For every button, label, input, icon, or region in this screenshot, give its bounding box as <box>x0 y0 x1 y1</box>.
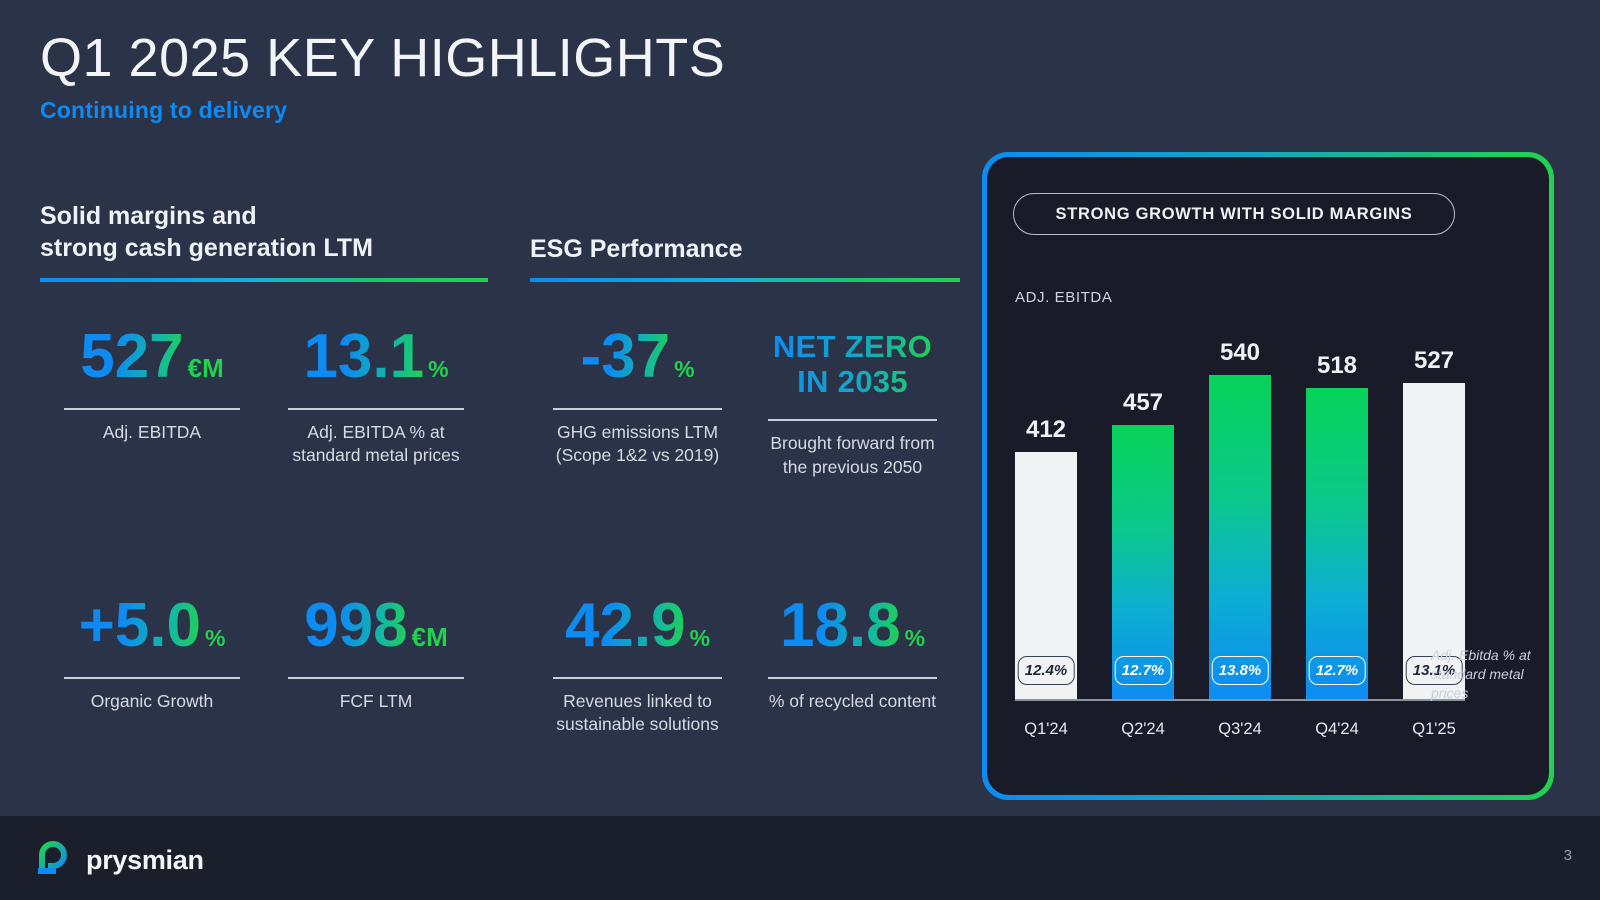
section-esg: ESG Performance <box>530 200 960 282</box>
section-title-financial: Solid margins and strong cash generation… <box>40 200 488 266</box>
kpi-unit: % <box>690 625 710 651</box>
chart-bar-column: 13.1%527 <box>1403 339 1465 699</box>
page-number: 3 <box>1564 847 1572 864</box>
footer: prysmian 3 <box>0 816 1600 900</box>
chart-bar-column: 12.7%457 <box>1112 339 1174 699</box>
kpi-value: +5.0 <box>79 595 201 657</box>
kpi-row-top: 527€M Adj. EBITDA 13.1% Adj. EBITDA % at… <box>40 282 970 479</box>
panel-badge: STRONG GROWTH WITH SOLID MARGINS <box>1013 193 1455 235</box>
kpi-group-financial-bottom: +5.0% Organic Growth 998€M FCF LTM <box>40 479 488 736</box>
kpi-caption: Revenues linked to sustainable solutions <box>542 690 733 736</box>
chart-margin-badge: 12.7% <box>1115 656 1172 685</box>
chart-margin-badge: 12.4% <box>1018 656 1075 685</box>
kpi-caption: Adj. EBITDA <box>52 421 252 444</box>
kpi-ghg-emissions: -37% GHG emissions LTM (Scope 1&2 vs 201… <box>530 326 745 479</box>
kpi-unit: €M <box>188 353 224 383</box>
chart-bar-value-label: 527 <box>1414 347 1454 375</box>
chart-x-tick-label: Q4'24 <box>1306 720 1368 739</box>
kpi-group-esg-top: -37% GHG emissions LTM (Scope 1&2 vs 201… <box>530 282 960 479</box>
prysmian-mark-icon <box>34 836 74 885</box>
brand-logo: prysmian <box>34 836 204 885</box>
section-financial: Solid margins and strong cash generation… <box>40 200 488 282</box>
kpi-row-bottom: +5.0% Organic Growth 998€M FCF LTM <box>40 479 970 736</box>
chart-bar-value-label: 412 <box>1026 416 1066 444</box>
kpi-area: Solid margins and strong cash generation… <box>40 200 970 736</box>
section-title-esg: ESG Performance <box>530 200 960 266</box>
kpi-adj-ebitda: 527€M Adj. EBITDA <box>40 326 264 467</box>
kpi-caption: % of recycled content <box>757 690 948 713</box>
kpi-unit: % <box>428 356 448 382</box>
kpi-value: 527 <box>80 326 183 388</box>
chart-x-tick-label: Q2'24 <box>1112 720 1174 739</box>
chart-bar-column: 12.7%518 <box>1306 339 1368 699</box>
kpi-unit: % <box>674 356 694 382</box>
kpi-caption: GHG emissions LTM (Scope 1&2 vs 2019) <box>542 421 733 467</box>
kpi-caption: Adj. EBITDA % at standard metal prices <box>276 421 476 467</box>
kpi-adj-ebitda-margin: 13.1% Adj. EBITDA % at standard metal pr… <box>264 326 488 467</box>
chart-bar-value-label: 457 <box>1123 389 1163 417</box>
chart-bar: 12.7% <box>1112 425 1174 699</box>
kpi-rule <box>288 408 464 410</box>
kpi-caption: Brought forward from the previous 2050 <box>757 432 948 478</box>
kpi-value: 42.9 <box>565 595 686 657</box>
kpi-value: 18.8 <box>780 595 901 657</box>
kpi-group-esg-bottom: 42.9% Revenues linked to sustainable sol… <box>530 479 960 736</box>
kpi-sustainable-revenues: 42.9% Revenues linked to sustainable sol… <box>530 595 745 736</box>
kpi-value: -37 <box>580 326 670 388</box>
chart-panel: STRONG GROWTH WITH SOLID MARGINS ADJ. EB… <box>982 152 1554 800</box>
chart-note: Adj. Ebitda % at standard metal prices <box>1431 646 1535 703</box>
chart-panel-inner: STRONG GROWTH WITH SOLID MARGINS ADJ. EB… <box>987 157 1549 795</box>
kpi-net-zero: NET ZERO IN 2035 Brought forward from th… <box>745 326 960 479</box>
kpi-value: 998 <box>304 595 407 657</box>
slide-header: Q1 2025 KEY HIGHLIGHTS Continuing to del… <box>40 30 725 124</box>
kpi-group-financial-top: 527€M Adj. EBITDA 13.1% Adj. EBITDA % at… <box>40 282 488 479</box>
chart-bar-column: 13.8%540 <box>1209 339 1271 699</box>
kpi-rule <box>553 677 721 679</box>
kpi-rule <box>553 408 721 410</box>
page-subtitle: Continuing to delivery <box>40 97 725 124</box>
chart-margin-badge: 12.7% <box>1309 656 1366 685</box>
chart-margin-badge: 13.8% <box>1212 656 1269 685</box>
kpi-unit: % <box>905 625 925 651</box>
chart-x-tick-label: Q1'24 <box>1015 720 1077 739</box>
kpi-rule <box>64 677 240 679</box>
section-headers-row: Solid margins and strong cash generation… <box>40 200 970 282</box>
kpi-rule <box>288 677 464 679</box>
chart-bar-column: 12.4%412 <box>1015 339 1077 699</box>
page-title: Q1 2025 KEY HIGHLIGHTS <box>40 30 725 87</box>
chart-bar-value-label: 518 <box>1317 352 1357 380</box>
kpi-fcf-ltm: 998€M FCF LTM <box>264 595 488 713</box>
chart-plot-area: 12.4%41212.7%45713.8%54012.7%51813.1%527 <box>1015 339 1465 699</box>
brand-name: prysmian <box>86 845 204 876</box>
chart-axis-label: ADJ. EBITDA <box>1015 289 1112 306</box>
kpi-value-text: NET ZERO IN 2035 <box>773 326 932 399</box>
kpi-caption: FCF LTM <box>276 690 476 713</box>
adj-ebitda-bar-chart: 12.4%41212.7%45713.8%54012.7%51813.1%527… <box>1015 317 1475 757</box>
kpi-rule <box>768 677 936 679</box>
kpi-recycled-content: 18.8% % of recycled content <box>745 595 960 736</box>
kpi-caption: Organic Growth <box>52 690 252 713</box>
kpi-rule <box>768 419 936 421</box>
kpi-unit: €M <box>412 622 448 652</box>
chart-bar: 12.4% <box>1015 452 1077 699</box>
kpi-unit: % <box>205 625 225 651</box>
kpi-organic-growth: +5.0% Organic Growth <box>40 595 264 713</box>
chart-axis-line <box>1015 699 1465 701</box>
chart-bar-value-label: 540 <box>1220 339 1260 367</box>
kpi-rule <box>64 408 240 410</box>
kpi-value: 13.1 <box>303 326 424 388</box>
chart-bar: 12.7% <box>1306 388 1368 699</box>
chart-x-tick-label: Q1'25 <box>1403 720 1465 739</box>
chart-x-tick-label: Q3'24 <box>1209 720 1271 739</box>
chart-bar: 13.8% <box>1209 375 1271 699</box>
